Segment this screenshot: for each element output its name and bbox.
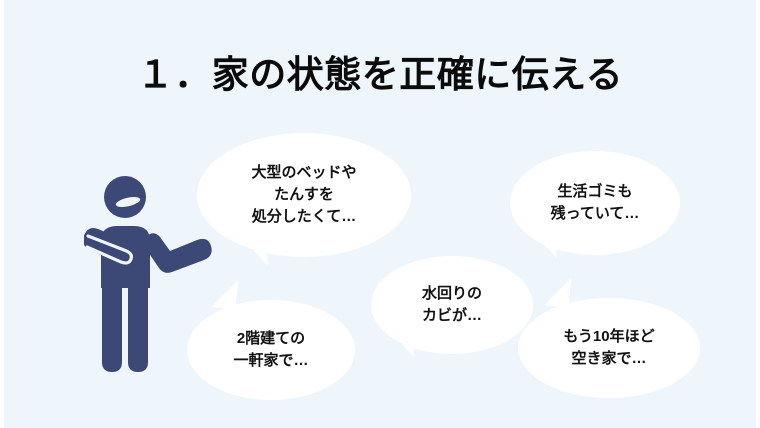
speech-bubble-water-mold: 水回りの カビが… bbox=[371, 256, 533, 354]
slide-root: １．家の状態を正確に伝える 大型のベッドや たんすを 処分したくて… bbox=[0, 0, 760, 428]
speech-bubble-text: 水回りの カビが… bbox=[371, 283, 533, 327]
speech-bubble-text: 2階建ての 一軒家で… bbox=[187, 328, 355, 372]
speech-bubble-text: 生活ゴミも 残っていて… bbox=[510, 181, 680, 225]
speech-bubble-vacant-ten-years: もう10年ほど 空き家で… bbox=[518, 298, 700, 398]
person-head bbox=[104, 176, 146, 218]
person-right-leg bbox=[128, 286, 148, 372]
speech-bubble-household-trash: 生活ゴミも 残っていて… bbox=[510, 151, 680, 255]
speech-bubble-large-furniture: 大型のベッドや たんすを 処分したくて… bbox=[197, 133, 411, 257]
page-title: １．家の状態を正確に伝える bbox=[0, 52, 760, 98]
person-left-leg bbox=[102, 286, 122, 372]
speech-bubble-text: 大型のベッドや たんすを 処分したくて… bbox=[197, 162, 411, 228]
speech-bubble-text: もう10年ほど 空き家で… bbox=[518, 326, 700, 370]
speech-bubble-two-story-house: 2階建ての 一軒家で… bbox=[187, 300, 355, 400]
